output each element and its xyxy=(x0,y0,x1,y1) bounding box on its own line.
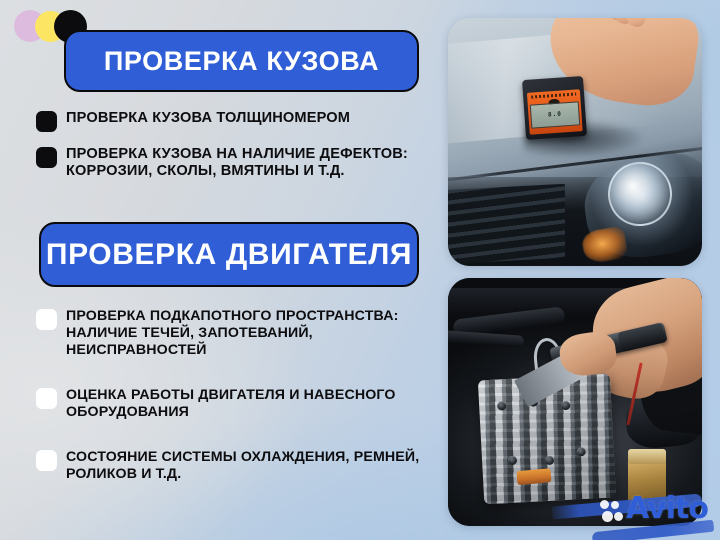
section-badge-engine-check: ПРОВЕРКА ДВИГАТЕЛЯ xyxy=(39,222,419,287)
gauge-lcd-display: 8.0 xyxy=(530,101,580,128)
brass-fitting-cap xyxy=(628,449,666,464)
photo-card-paint-gauge: 8.0 xyxy=(448,18,702,266)
list-item-label: ПРОВЕРКА КУЗОВА ТОЛЩИНОМЕРОМ xyxy=(66,110,350,127)
poster-canvas: ПРОВЕРКА КУЗОВА ПРОВЕРКА КУЗОВА ТОЛЩИНОМ… xyxy=(0,0,720,540)
brass-fitting xyxy=(628,459,666,506)
photo-card-engine-service xyxy=(448,278,702,526)
list-item: СОСТОЯНИЕ СИСТЕМЫ ОХЛАЖДЕНИЯ, РЕМНЕЙ, РО… xyxy=(36,449,436,483)
bullet-marker-icon xyxy=(36,111,57,132)
list-item: ПРОВЕРКА ПОДКАПОТНОГО ПРОСТРАНСТВА: НАЛИ… xyxy=(36,308,436,359)
list-item-label: ОЦЕНКА РАБОТЫ ДВИГАТЕЛЯ И НАВЕСНОГО ОБОР… xyxy=(66,387,426,421)
photo-column: 8.0 xyxy=(448,0,712,540)
list-item: ПРОВЕРКА КУЗОВА ТОЛЩИНОМЕРОМ xyxy=(36,110,436,132)
gauge-brand-strip xyxy=(531,92,576,99)
bullet-list-body-check: ПРОВЕРКА КУЗОВА ТОЛЩИНОМЕРОМ ПРОВЕРКА КУ… xyxy=(36,110,436,194)
bullet-marker-icon xyxy=(36,147,57,168)
paint-gauge-illustration: 8.0 xyxy=(448,18,702,266)
section-badge-body-check: ПРОВЕРКА КУЗОВА xyxy=(64,30,419,92)
list-item: ОЦЕНКА РАБОТЫ ДВИГАТЕЛЯ И НАВЕСНОГО ОБОР… xyxy=(36,387,436,421)
orange-sealant-strip xyxy=(517,468,552,485)
list-item: ПРОВЕРКА КУЗОВА НА НАЛИЧИЕ ДЕФЕКТОВ: КОР… xyxy=(36,146,436,180)
bullet-marker-icon xyxy=(36,309,57,330)
list-item-label: СОСТОЯНИЕ СИСТЕМЫ ОХЛАЖДЕНИЯ, РЕМНЕЙ, РО… xyxy=(66,449,426,483)
engine-illustration xyxy=(448,278,702,526)
list-item-label: ПРОВЕРКА КУЗОВА НА НАЛИЧИЕ ДЕФЕКТОВ: КОР… xyxy=(66,146,426,180)
bullet-marker-icon xyxy=(36,450,57,471)
bullet-marker-icon xyxy=(36,388,57,409)
finger xyxy=(625,18,648,28)
list-item-label: ПРОВЕРКА ПОДКАПОТНОГО ПРОСТРАНСТВА: НАЛИ… xyxy=(66,308,426,359)
radiator-grille xyxy=(448,183,565,264)
paint-thickness-gauge-device: 8.0 xyxy=(522,75,587,139)
content-column: ПРОВЕРКА КУЗОВА ПРОВЕРКА КУЗОВА ТОЛЩИНОМ… xyxy=(0,0,452,540)
bullet-list-engine-check: ПРОВЕРКА ПОДКАПОТНОГО ПРОСТРАНСТВА: НАЛИ… xyxy=(36,308,436,511)
